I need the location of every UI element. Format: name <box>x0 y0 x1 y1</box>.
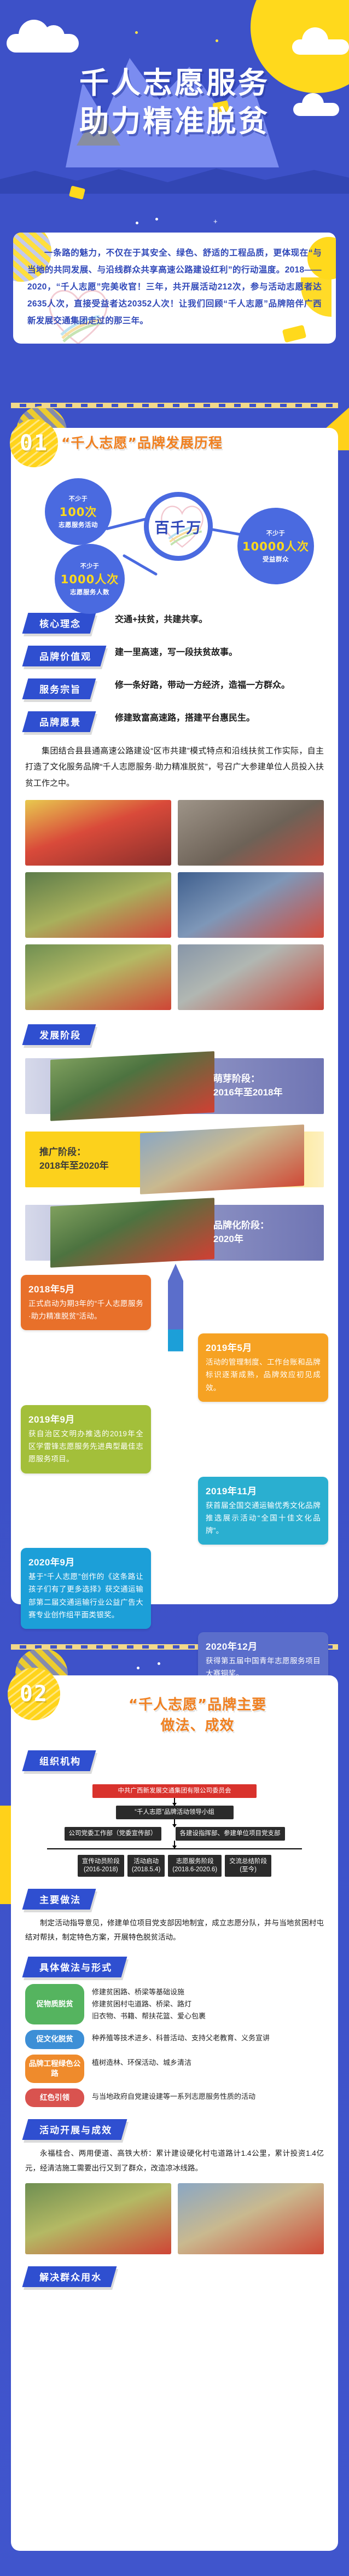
forms-list: 促物质脱贫 修建贫困路、桥梁等基础设施 修建贫困村屯道路、桥梁、路灯 旧衣物、书… <box>25 1984 324 2107</box>
concept-text-0: 交通+扶贫，共建共享。 <box>115 612 324 626</box>
effect-block: 活动开展与成效 永福桂合、两用便道、高铁大桥：累计建设硬化村屯道路计1.4公里，… <box>25 2119 324 2175</box>
form-body-1: 种养殖等技术进乡、科普活动、支持父老教育、义务宣讲 <box>84 2030 324 2049</box>
org-phase-2-period: (2018.6-2020.6) <box>172 1866 217 1873</box>
timeline-row: 2019年9月 获自治区文明办推选的2019年全区学雷锋志愿服务先进典型最佳志愿… <box>11 1405 338 1473</box>
stage-photo <box>140 1124 304 1194</box>
form-item-3: 红色引领 与当地政府自党建设建等一系列志愿服务性质的活动 <box>25 2088 324 2107</box>
forms-block: 具体做法与形式 促物质脱贫 修建贫困路、桥梁等基础设施 修建贫困村屯道路、桥梁、… <box>25 1957 324 2107</box>
section-01-number: 01 <box>20 431 48 456</box>
hub-node-0-prefix: 不少于 <box>69 494 88 503</box>
water-label-text: 解决群众用水 <box>39 2270 102 2283</box>
org-phase-0: 宣传动员阶段 (2016-2018) <box>78 1855 124 1877</box>
stage-2-period: 2020年 <box>213 1233 312 1246</box>
form-0-item-2: 旧衣物、书籍、帮扶花篮、爱心包裹 <box>92 2010 324 2022</box>
org-phase-2-name: 志愿服务阶段 <box>176 1858 214 1865</box>
org-third-box-1: 各建设指挥部、参建单位项目党支部 <box>176 1827 285 1841</box>
section-01-title: “千人志愿”品牌发展历程 <box>61 432 223 452</box>
photo-gallery <box>11 791 338 1010</box>
timeline-date-3: 2019年11月 <box>206 1483 321 1497</box>
timeline-text-0: 正式启动为期3年的“千人志愿服务·助力精准脱贫”活动。 <box>28 1297 143 1322</box>
org-top-box: 中共广西新发展交通集团有限公司委员会 <box>92 1784 257 1798</box>
hub-node-1: 不少于 10000人次 受益群众 <box>237 508 314 584</box>
cloud-icon <box>7 34 79 53</box>
org-phase-3-name: 交流总结阶段 <box>229 1858 267 1865</box>
hub-node-1-prefix: 不少于 <box>266 529 286 537</box>
stage-photo <box>50 1051 214 1121</box>
timeline-card-2: 2019年9月 获自治区文明办推选的2019年全区学雷锋志愿服务先进典型最佳志愿… <box>21 1405 151 1473</box>
photo <box>25 800 171 866</box>
hub-node-1-value: 10000人次 <box>242 538 309 554</box>
concept-text-3: 修建致富高速路，搭建平台惠民生。 <box>115 710 324 725</box>
dot-decoration <box>136 222 138 224</box>
stage-0-period: 2016年至2018年 <box>213 1086 312 1100</box>
photo <box>178 944 324 1010</box>
hub-node-0-value: 100次 <box>60 503 97 520</box>
stages-label-text: 发展阶段 <box>39 1028 81 1041</box>
org-label: 组织机构 <box>22 1750 96 1771</box>
intro-paragraph: 一条路的魅力，不仅在于其安全、绿色、舒适的工程品质，更体现在“与当地的共同发展、… <box>27 245 322 329</box>
timeline-date-2: 2019年9月 <box>28 1412 143 1425</box>
timeline-date-0: 2018年5月 <box>28 1281 143 1295</box>
stages-block: 发展阶段 萌芽阶段： 2016年至2018年 推广阶段： 2018年至2020年 <box>11 1010 338 1265</box>
timeline-date-5: 2020年12月 <box>206 1639 321 1652</box>
org-phase-2: 志愿服务阶段 (2018.6-2020.6) <box>168 1855 222 1877</box>
org-phase-1-period: (2018.5.4) <box>132 1866 160 1873</box>
stage-2-name: 品牌化阶段： <box>213 1219 312 1233</box>
timeline-text-1: 活动的管理制度、工作台账和品牌标识逐渐成熟，品牌效应初见成效。 <box>206 1356 321 1394</box>
concept-text-2: 修一条好路，带动一方经济，造福一方群众。 <box>115 677 324 692</box>
stages-label: 发展阶段 <box>22 1024 96 1045</box>
forms-label: 具体做法与形式 <box>22 1957 127 1977</box>
title-line-1: 千人志愿服务 <box>0 65 349 102</box>
dot-decoration <box>216 39 218 42</box>
concept-row: 服务宗旨 修一条好路，带动一方经济，造福一方群众。 <box>25 677 324 699</box>
infographic-page: + 千人志愿服务 助力精准脱贫 一条路的魅力，不仅在于其安全、绿色、舒适的工程品… <box>0 0 349 2576</box>
hub-node-0: 不少于 100次 志愿服务活动 <box>45 478 112 545</box>
org-phase-3-period: (至今) <box>240 1866 257 1873</box>
main-method-label-text: 主要做法 <box>39 1892 81 1906</box>
stage-0-name: 萌芽阶段： <box>213 1072 312 1086</box>
org-phase-0-name: 宣传动员阶段 <box>82 1858 120 1865</box>
photo <box>25 2183 171 2254</box>
section-02-panel: “千人志愿”品牌主要 做法、成效 组织机构 中共广西新发展交通集团有限公司委员会… <box>11 1675 338 2551</box>
dot-decoration <box>135 31 138 34</box>
page-title: 千人志愿服务 助力精准脱贫 <box>0 65 349 140</box>
concept-label-2-text: 服务宗旨 <box>39 682 81 695</box>
org-phase-0-period: (2016-2018) <box>84 1866 118 1873</box>
photo <box>178 872 324 938</box>
timeline-text-4: 基于“千人志愿”创作的《这条路让孩子们有了更多选择》获交通运输部第二届交通运输行… <box>28 1570 143 1621</box>
form-body-3: 与当地政府自党建设建等一系列志愿服务性质的活动 <box>84 2088 324 2107</box>
concept-label-3: 品牌愿景 <box>22 711 96 732</box>
form-pill-2: 品牌工程绿色公路 <box>25 2055 84 2083</box>
stage-1: 推广阶段： 2018年至2020年 <box>25 1127 324 1192</box>
title-line-2: 助力精准脱贫 <box>0 103 349 140</box>
timeline-card-3: 2019年11月 获首届全国交通运输优秀文化品牌推选展示活动“全国十佳文化品牌”… <box>198 1477 328 1545</box>
org-third-box-0: 公司党委工作部（党委宣传部） <box>65 1827 161 1841</box>
concept-row: 品牌价值观 建一里高速，写一段扶贫故事。 <box>25 645 324 666</box>
effect-text: 永福桂合、两用便道、高铁大桥：累计建设硬化村屯道路计1.4公里，累计投资1.4亿… <box>25 2146 324 2175</box>
hub-center-label: 百千万 <box>155 516 202 537</box>
photo <box>178 2183 324 2254</box>
hub-center-node: 百千万 <box>144 492 213 561</box>
concept-label-0-text: 核心理念 <box>39 616 81 630</box>
timeline-text-2: 获自治区文明办推选的2019年全区学雷锋志愿服务先进典型最佳志愿服务项目。 <box>28 1428 143 1466</box>
main-method-label: 主要做法 <box>22 1889 96 1910</box>
effect-label-text: 活动开展与成效 <box>39 2122 112 2136</box>
timeline-date-1: 2019年5月 <box>206 1340 321 1354</box>
section-01-badge: 01 <box>10 419 58 467</box>
section-01-body: 集团结合县县通高速公路建设“区市共建”模式特点和沿线扶贫工作实际，自主打造了文化… <box>25 743 324 791</box>
timeline-row: 2019年11月 获首届全国交通运输优秀文化品牌推选展示活动“全国十佳文化品牌”… <box>11 1477 338 1545</box>
org-label-text: 组织机构 <box>39 1754 81 1767</box>
hub-node-1-label: 受益群众 <box>263 555 289 564</box>
section-02-title-line2: 做法、成效 <box>71 1716 324 1737</box>
photo <box>25 872 171 938</box>
main-method-block: 主要做法 制定活动指导意见，修建单位项目党支部因地制宜，成立志愿分队，并与当地贫… <box>25 1889 324 1945</box>
org-block: 组织机构 中共广西新发展交通集团有限公司委员会 “千人志愿”品牌活动领导小组 公… <box>11 1736 338 2287</box>
org-phase-1: 活动启动 (2018.5.4) <box>127 1855 165 1877</box>
section-01-panel: 不少于 100次 志愿服务活动 不少于 10000人次 受益群众 不少于 100… <box>11 428 338 1604</box>
concept-label-0: 核心理念 <box>22 613 96 634</box>
org-phase-3: 交流总结阶段 (至今) <box>225 1855 271 1877</box>
form-body-0: 修建贫困路、桥梁等基础设施 修建贫困村屯道路、桥梁、路灯 旧衣物、书籍、帮扶花篮… <box>84 1984 324 2024</box>
form-3-item-0: 与当地政府自党建设建等一系列志愿服务性质的活动 <box>92 2091 324 2103</box>
stage-photo <box>50 1198 214 1268</box>
brand-goal-diagram: 不少于 100次 志愿服务活动 不少于 10000人次 受益群众 不少于 100… <box>11 462 338 610</box>
concept-list: 核心理念 交通+扶贫，共建共享。 品牌价值观 建一里高速，写一段扶贫故事。 服务… <box>11 610 338 791</box>
stage-1-name: 推广阶段： <box>39 1146 141 1159</box>
section-02-title-line1: “千人志愿”品牌主要 <box>71 1695 324 1716</box>
hub-node-0-label: 志愿服务活动 <box>59 520 98 529</box>
form-item-2: 品牌工程绿色公路 植树造林、环保活动、城乡清洁 <box>25 2055 324 2083</box>
stage-1-text: 推广阶段： 2018年至2020年 <box>39 1146 141 1173</box>
concept-label-3-text: 品牌愿景 <box>39 715 81 728</box>
concept-row: 品牌愿景 修建致富高速路，搭建平台惠民生。 <box>25 710 324 732</box>
concept-label-2: 服务宗旨 <box>22 678 96 699</box>
form-item-1: 促文化脱贫 种养殖等技术进乡、科普活动、支持父老教育、义务宣讲 <box>25 2030 324 2049</box>
main-method-text: 制定活动指导意见，修建单位项目党支部因地制宜，成立志愿分队，并与当地贫困村屯结对… <box>25 1916 324 1945</box>
concept-label-1: 品牌价值观 <box>22 646 107 666</box>
timeline-date-4: 2020年9月 <box>28 1554 143 1568</box>
timeline-row: 2020年9月 基于“千人志愿”创作的《这条路让孩子们有了更多选择》获交通运输部… <box>11 1548 338 1629</box>
concept-label-1-text: 品牌价值观 <box>39 649 91 663</box>
form-1-item-0: 种养殖等技术进乡、科普活动、支持父老教育、义务宣讲 <box>92 2032 324 2044</box>
concept-text-1: 建一里高速，写一段扶贫故事。 <box>115 645 324 659</box>
stage-0: 萌芽阶段： 2016年至2018年 <box>25 1054 324 1118</box>
timeline-card-1: 2019年5月 活动的管理制度、工作台账和品牌标识逐渐成熟，品牌效应初见成效。 <box>198 1333 328 1402</box>
hub-node-2-value: 1000人次 <box>61 571 119 587</box>
water-block: 解决群众用水 <box>25 2266 324 2287</box>
forms-label-text: 具体做法与形式 <box>39 1960 112 1974</box>
water-label: 解决群众用水 <box>22 2266 117 2287</box>
org-second-box: “千人志愿”品牌活动领导小组 <box>116 1806 234 1819</box>
concept-row: 核心理念 交通+扶贫，共建共享。 <box>25 612 324 634</box>
form-2-item-0: 植树造林、环保活动、城乡清洁 <box>92 2057 324 2069</box>
photo <box>178 800 324 866</box>
hub-node-2-label: 志愿服务人数 <box>70 588 109 596</box>
form-pill-3: 红色引领 <box>25 2088 84 2107</box>
stage-2: 品牌化阶段： 2020年 <box>25 1200 324 1265</box>
form-pill-0: 促物质脱贫 <box>25 1984 84 2024</box>
dot-decoration <box>155 218 158 221</box>
form-body-2: 植树造林、环保活动、城乡清洁 <box>84 2055 324 2083</box>
timeline-card-0: 2018年5月 正式启动为期3年的“千人志愿服务·助力精准脱贫”活动。 <box>21 1275 151 1330</box>
stage-1-period: 2018年至2020年 <box>39 1159 141 1173</box>
road-divider <box>11 403 338 408</box>
intro-card: 一条路的魅力，不仅在于其安全、绿色、舒适的工程品质，更体现在“与当地的共同发展、… <box>13 233 336 344</box>
timeline: 2018年5月 正式启动为期3年的“千人志愿服务·助力精准脱贫”活动。 2019… <box>11 1275 338 1688</box>
hub-node-2: 不少于 1000人次 志愿服务人数 <box>55 544 125 614</box>
form-item-0: 促物质脱贫 修建贫困路、桥梁等基础设施 修建贫困村屯道路、桥梁、路灯 旧衣物、书… <box>25 1984 324 2024</box>
timeline-text-3: 获首届全国交通运输优秀文化品牌推选展示活动“全国十佳文化品牌”。 <box>206 1499 321 1538</box>
form-0-item-0: 修建贫困路、桥梁等基础设施 <box>92 1986 324 1998</box>
stage-2-text: 品牌化阶段： 2020年 <box>213 1219 312 1246</box>
plus-decoration: + <box>213 218 218 225</box>
form-pill-1: 促文化脱贫 <box>25 2030 84 2049</box>
org-phase-1-name: 活动启动 <box>133 1858 159 1865</box>
timeline-card-4: 2020年9月 基于“千人志愿”创作的《这条路让孩子们有了更多选择》获交通运输部… <box>21 1548 151 1629</box>
hub-node-2-prefix: 不少于 <box>80 561 100 570</box>
form-0-item-1: 修建贫困村屯道路、桥梁、路灯 <box>92 1998 324 2010</box>
org-chart: 中共广西新发展交通集团有限公司委员会 “千人志愿”品牌活动领导小组 公司党委工作… <box>25 1781 324 1876</box>
section-02-number: 02 <box>20 1681 48 1707</box>
stage-0-text: 萌芽阶段： 2016年至2018年 <box>213 1072 312 1099</box>
effect-label: 活动开展与成效 <box>22 2119 127 2140</box>
section-02-badge: 02 <box>8 1668 60 1720</box>
photo <box>25 944 171 1010</box>
